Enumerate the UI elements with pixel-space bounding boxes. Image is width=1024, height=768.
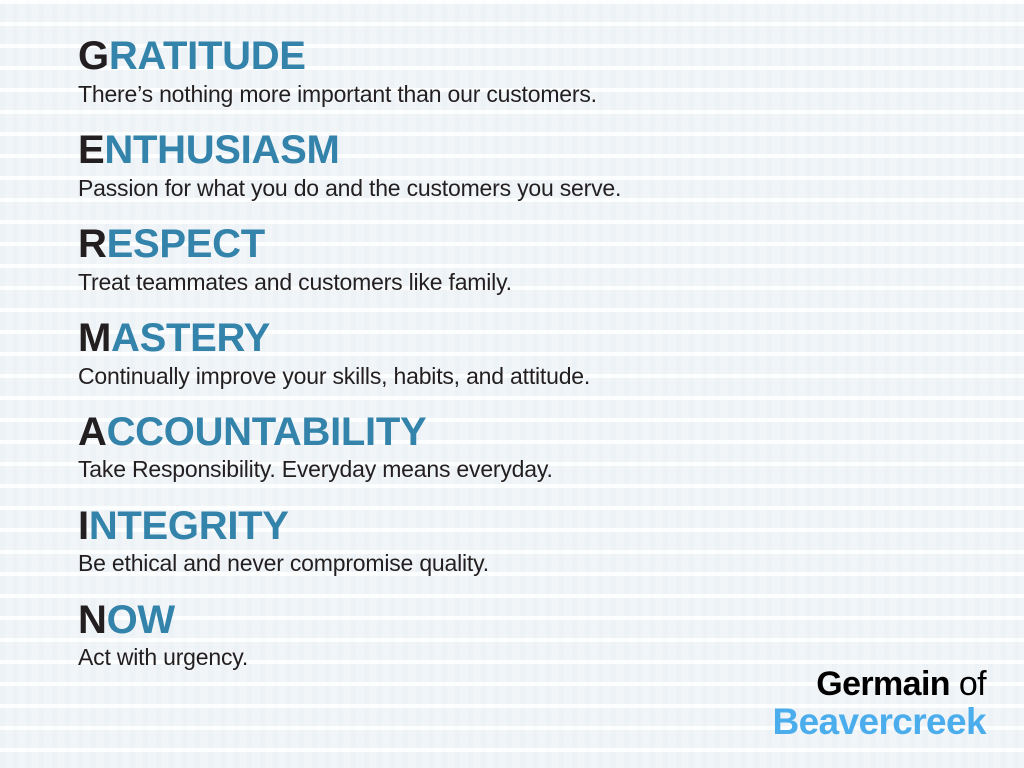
value-item-gratitude: GRATITUDE There’s nothing more important… <box>78 36 1024 108</box>
value-item-mastery: MASTERY Continually improve your skills,… <box>78 318 1024 390</box>
value-initial-letter: A <box>78 410 107 454</box>
value-item-respect: RESPECT Treat teammates and customers li… <box>78 224 1024 296</box>
value-description-gratitude: There’s nothing more important than our … <box>78 81 1024 108</box>
value-heading-accountability: ACCOUNTABILITY <box>78 412 1024 453</box>
value-item-integrity: INTEGRITY Be ethical and never compromis… <box>78 506 1024 578</box>
dealership-logo: Germain of Beavercreek <box>772 667 986 740</box>
value-initial-letter: M <box>78 316 111 360</box>
value-heading-now: NOW <box>78 600 1024 641</box>
values-list: GRATITUDE There’s nothing more important… <box>0 0 1024 671</box>
value-description-integrity: Be ethical and never compromise quality. <box>78 550 1024 577</box>
value-heading-remainder: CCOUNTABILITY <box>107 410 427 454</box>
value-initial-letter: N <box>78 598 107 642</box>
value-description-accountability: Take Responsibility. Everyday means ever… <box>78 456 1024 483</box>
value-heading-integrity: INTEGRITY <box>78 506 1024 547</box>
values-poster: GRATITUDE There’s nothing more important… <box>0 0 1024 768</box>
value-item-accountability: ACCOUNTABILITY Take Responsibility. Ever… <box>78 412 1024 484</box>
value-description-mastery: Continually improve your skills, habits,… <box>78 363 1024 390</box>
value-initial-letter: E <box>78 128 104 172</box>
value-item-now: NOW Act with urgency. <box>78 600 1024 672</box>
value-description-enthusiasm: Passion for what you do and the customer… <box>78 175 1024 202</box>
logo-primary-line: Germain of <box>772 667 986 701</box>
value-heading-respect: RESPECT <box>78 224 1024 265</box>
value-heading-gratitude: GRATITUDE <box>78 36 1024 77</box>
value-heading-mastery: MASTERY <box>78 318 1024 359</box>
value-heading-remainder: OW <box>107 598 175 642</box>
value-heading-remainder: NTEGRITY <box>89 504 289 548</box>
value-heading-remainder: RATITUDE <box>109 34 306 78</box>
value-initial-letter: R <box>78 222 107 266</box>
value-initial-letter: I <box>78 504 89 548</box>
value-heading-enthusiasm: ENTHUSIASM <box>78 130 1024 171</box>
value-heading-remainder: ESPECT <box>107 222 265 266</box>
value-heading-remainder: NTHUSIASM <box>104 128 339 172</box>
value-heading-remainder: ASTERY <box>111 316 270 360</box>
value-initial-letter: G <box>78 34 109 78</box>
logo-brand-name: Germain <box>816 665 950 703</box>
logo-location-name: Beavercreek <box>772 703 986 740</box>
value-item-enthusiasm: ENTHUSIASM Passion for what you do and t… <box>78 130 1024 202</box>
value-description-respect: Treat teammates and customers like famil… <box>78 269 1024 296</box>
logo-connector-word: of <box>959 665 986 703</box>
